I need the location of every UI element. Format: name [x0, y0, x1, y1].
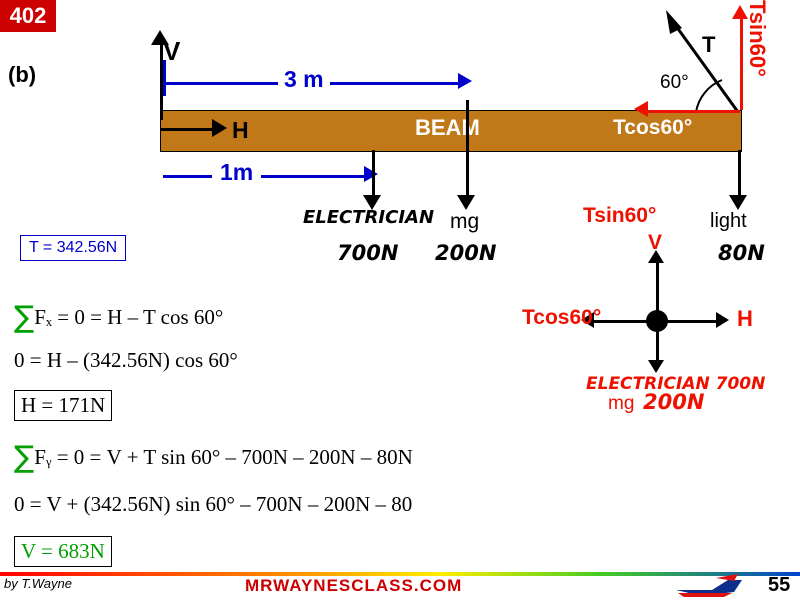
tsin60-label: Tsin60°	[744, 0, 770, 77]
angle-label: 60°	[660, 72, 689, 94]
sigma-symbol-x: ∑	[14, 300, 34, 335]
tcos60-shaft	[645, 110, 740, 113]
fbd-down-label-mg: mg	[608, 393, 634, 415]
dim-3m-arrow-head	[458, 73, 472, 89]
light-force-head	[729, 195, 747, 210]
equation-line-4: ∑Fᵧ = 0 = V + T sin 60° – 700N – 200N – …	[14, 440, 413, 475]
h-label: H	[232, 117, 249, 144]
electrician-force-shaft	[372, 150, 375, 198]
h-arrow-shaft	[160, 128, 215, 131]
electrician-label: ELECTRICIAN	[303, 207, 434, 228]
light-label: light	[710, 210, 747, 233]
light-force-value: 80N	[718, 241, 765, 265]
equation-line-2: 0 = H – (342.56N) cos 60°	[14, 348, 238, 373]
equation-line-6-wrap: V = 683N	[14, 536, 112, 567]
equation-line-1: ∑Fₓ = 0 = H – T cos 60°	[14, 300, 223, 335]
fbd-up-shaft	[656, 262, 659, 314]
slide-number-badge: 402	[0, 0, 56, 32]
fbd-down-shaft	[656, 330, 659, 362]
dim-1m-line	[163, 175, 368, 178]
equation-line-5: 0 = V + (342.56N) sin 60° – 700N – 200N …	[14, 492, 412, 517]
fbd-left-label: Tcos60°	[522, 306, 601, 330]
dim-3m-tick	[163, 60, 166, 96]
dim-1m-arrow-head	[364, 166, 378, 182]
mg-label: mg	[450, 210, 479, 234]
footer-page-number: 55	[768, 574, 790, 597]
mg-force-shaft	[466, 100, 469, 198]
footer-site-label: MRWAYNESCLASS.COM	[245, 576, 462, 596]
mg-force-value: 200N	[435, 241, 496, 265]
fbd-left-shaft	[592, 320, 654, 323]
dim-1m-label: 1m	[212, 159, 261, 186]
fbd-right-head	[716, 312, 729, 328]
part-label: (b)	[8, 62, 36, 88]
mg-force-head	[457, 195, 475, 210]
footer-author: by T.Wayne	[4, 576, 72, 591]
beam-label: BEAM	[415, 115, 480, 141]
h-arrow-head	[212, 119, 227, 137]
fbd-right-label: H	[737, 306, 753, 332]
electrician-force-value: 700N	[337, 241, 398, 265]
tcos60-label: Tcos60°	[613, 116, 692, 140]
tcos60-arrow-head	[634, 101, 648, 117]
fbd-up-label: Tsin60°	[583, 204, 656, 228]
fbd-down-label-mg-value: 200N	[643, 390, 704, 414]
light-force-shaft	[738, 150, 741, 198]
sigma-symbol-y: ∑	[14, 440, 34, 475]
v-result-box: V = 683N	[14, 536, 112, 567]
equation-line-1-text: Fₓ = 0 = H – T cos 60°	[34, 305, 223, 329]
boat-icon	[672, 572, 752, 598]
tension-label: T	[702, 32, 715, 58]
equation-line-4-text: Fᵧ = 0 = V + T sin 60° – 700N – 200N – 8…	[34, 445, 413, 469]
tsin60-shaft	[740, 18, 743, 110]
fbd-right-shaft	[666, 320, 718, 323]
fbd-down-head	[648, 360, 664, 373]
equation-line-3-wrap: H = 171N	[14, 390, 112, 421]
fbd-up-label-v: V	[648, 231, 662, 255]
h-result-box: H = 171N	[14, 390, 112, 421]
dim-3m-label: 3 m	[278, 66, 330, 93]
tension-result-box: T = 342.56N	[20, 235, 126, 261]
